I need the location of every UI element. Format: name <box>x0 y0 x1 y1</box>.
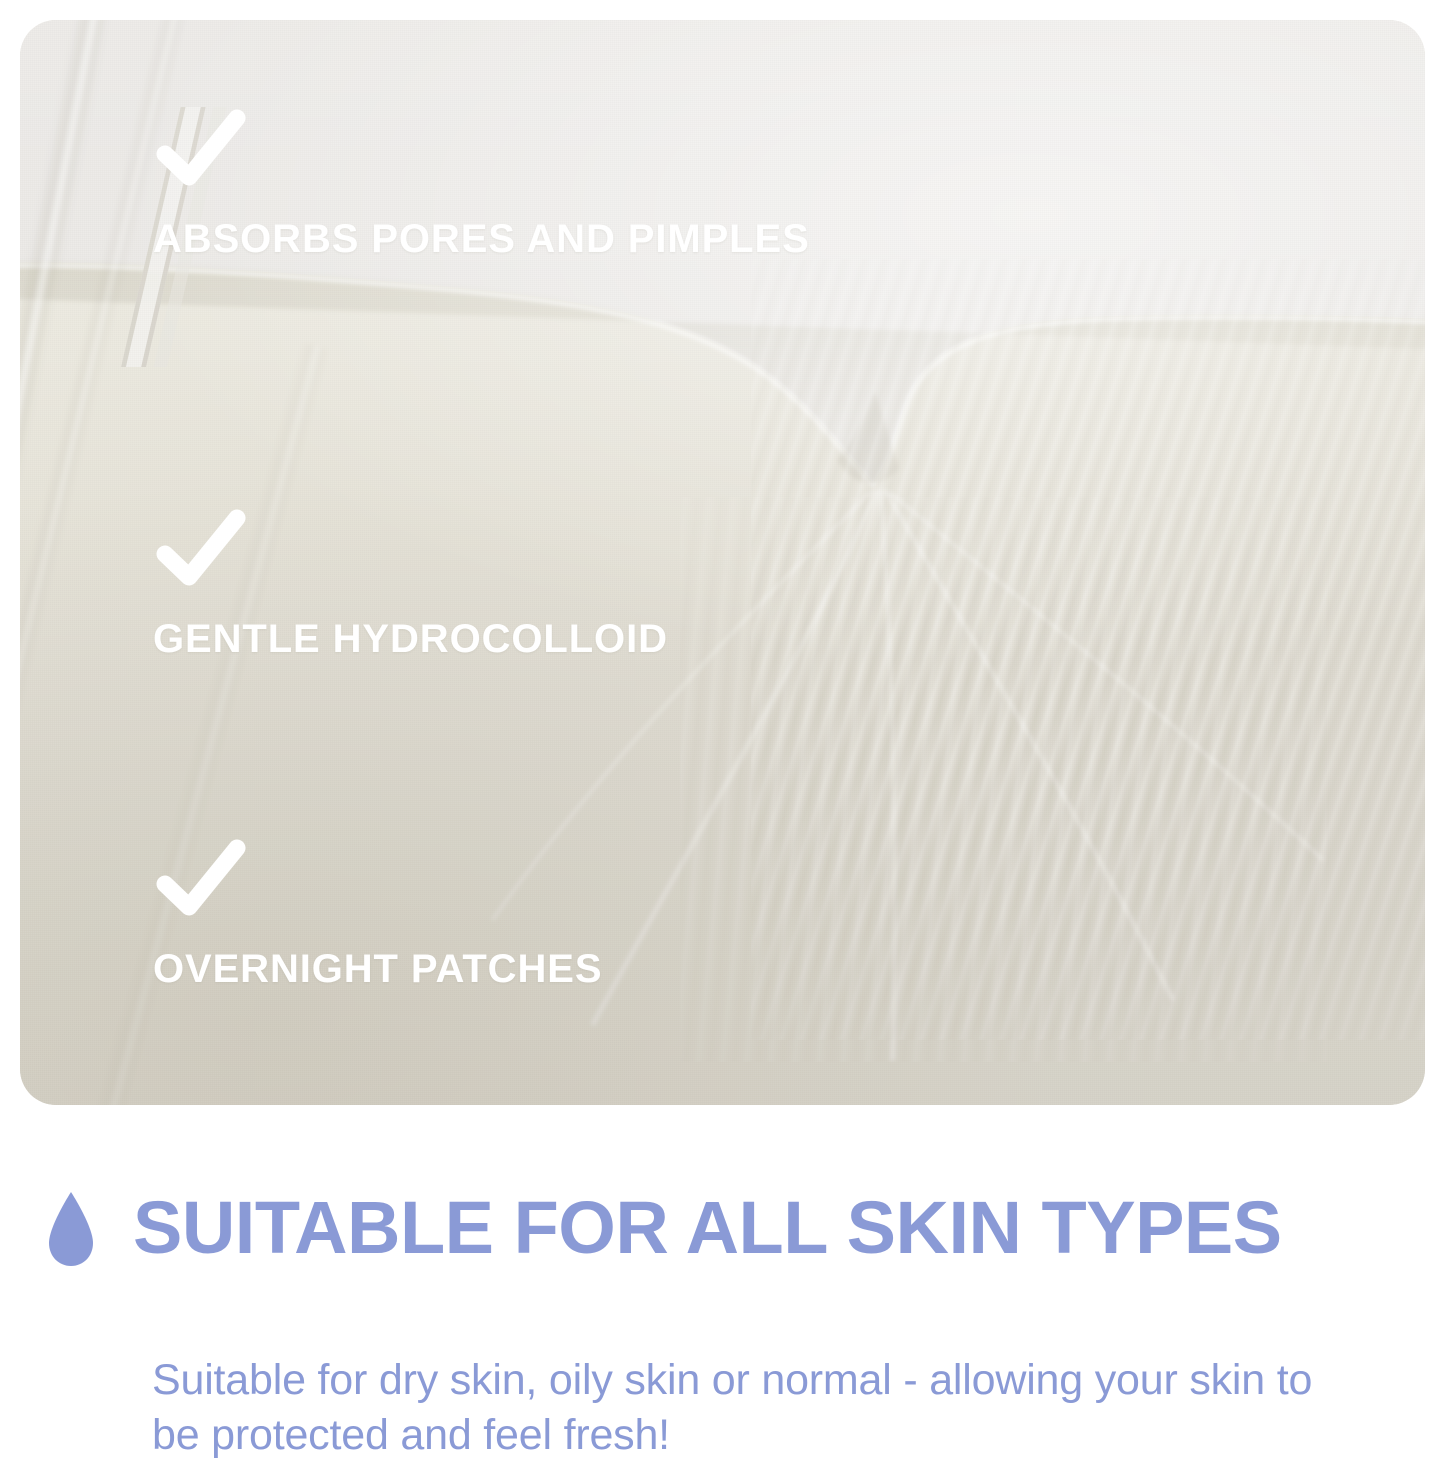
water-drop-icon <box>47 1190 95 1268</box>
feature-label: OVERNIGHT PATCHES <box>153 949 602 989</box>
check-icon <box>155 105 247 193</box>
feature-item-overnight-patches: OVERNIGHT PATCHES <box>153 835 602 989</box>
check-icon <box>155 835 247 923</box>
product-image-panel: ABSORBS PORES AND PIMPLES GENTLE HYDROCO… <box>20 20 1425 1105</box>
feature-item-absorbs-pores-and-pimples: ABSORBS PORES AND PIMPLES <box>153 105 810 259</box>
feature-label: ABSORBS PORES AND PIMPLES <box>153 219 810 259</box>
callout-headline-row: SUITABLE FOR ALL SKIN TYPES <box>0 1130 1445 1327</box>
feature-label: GENTLE HYDROCOLLOID <box>153 619 668 659</box>
callout-block: SUITABLE FOR ALL SKIN TYPES Suitable for… <box>0 1130 1445 1463</box>
check-icon <box>155 505 247 593</box>
callout-body-text: Suitable for dry skin, oily skin or norm… <box>0 1353 1445 1463</box>
feature-item-gentle-hydrocolloid: GENTLE HYDROCOLLOID <box>153 505 668 659</box>
callout-headline: SUITABLE FOR ALL SKIN TYPES <box>133 1191 1282 1265</box>
